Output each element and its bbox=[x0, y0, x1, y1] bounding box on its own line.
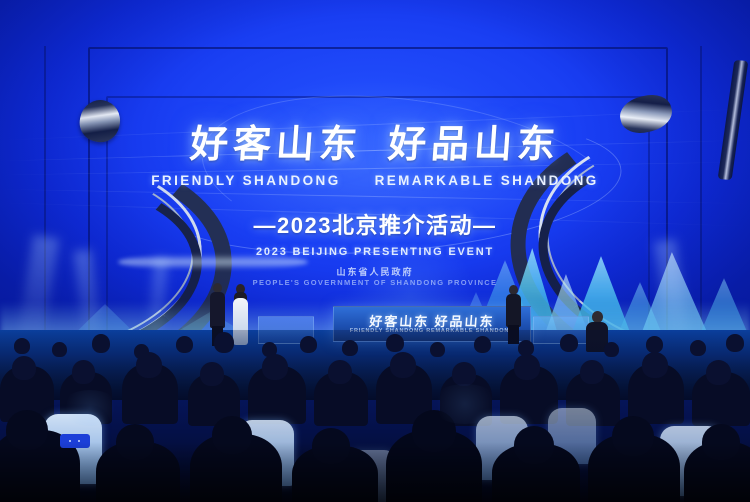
audience-head bbox=[116, 424, 154, 460]
audience-head bbox=[690, 340, 706, 356]
audience-head bbox=[430, 342, 445, 357]
audience-head bbox=[136, 352, 162, 378]
audience-head bbox=[580, 360, 604, 384]
audience-head bbox=[474, 336, 491, 353]
event-photo: 好客山东好品山东 FRIENDLY SHANDONGREMARKABLE SHA… bbox=[0, 0, 750, 502]
audience-head bbox=[312, 428, 350, 464]
screen-headline-block: 好客山东好品山东 FRIENDLY SHANDONGREMARKABLE SHA… bbox=[0, 126, 750, 258]
headline-en-right: REMARKABLE SHANDONG bbox=[375, 173, 599, 188]
audience-head bbox=[412, 410, 456, 452]
audience-head bbox=[604, 342, 619, 357]
organizer-chinese: 山东省人民政府 bbox=[0, 265, 750, 278]
subtitle-chinese: —2023北京推介活动— bbox=[0, 208, 750, 240]
audience-head bbox=[612, 416, 654, 456]
audience-head bbox=[12, 356, 36, 380]
chair-badge-dot bbox=[69, 440, 71, 442]
audience-head bbox=[390, 352, 416, 378]
audience-head bbox=[702, 424, 740, 460]
audience-head bbox=[176, 336, 193, 353]
audience-head bbox=[212, 416, 252, 454]
audience-head bbox=[52, 342, 67, 357]
audience-head bbox=[726, 334, 744, 352]
headline-english: FRIENDLY SHANDONGREMARKABLE SHANDONG bbox=[0, 173, 750, 188]
audience-head bbox=[300, 336, 317, 353]
headline-chinese: 好客山东好品山东 bbox=[0, 126, 750, 166]
audience-head bbox=[6, 410, 48, 450]
person-torso bbox=[506, 294, 521, 327]
audience-head bbox=[514, 426, 554, 464]
headline-cn-right: 好品山东 bbox=[387, 124, 562, 166]
person-torso bbox=[210, 292, 225, 328]
audience-head bbox=[262, 354, 288, 380]
audience-head bbox=[328, 360, 352, 384]
audience-head bbox=[514, 354, 540, 380]
audience-head bbox=[342, 340, 358, 356]
audience-area bbox=[0, 330, 750, 502]
audience-head bbox=[452, 362, 476, 386]
organizer-english: PEOPLE'S GOVERNMENT OF SHANDONG PROVINCE bbox=[0, 278, 750, 287]
audience-head bbox=[92, 334, 110, 353]
chair-badge bbox=[60, 434, 90, 448]
audience-head bbox=[72, 360, 95, 384]
audience-head bbox=[706, 360, 731, 385]
subtitle-english: 2023 BEIJING PRESENTING EVENT bbox=[0, 246, 750, 258]
audience-head bbox=[200, 362, 224, 386]
audience-head bbox=[560, 334, 578, 352]
audience-head bbox=[646, 336, 663, 353]
chair-badge-dot bbox=[78, 440, 80, 442]
audience-head bbox=[642, 352, 668, 378]
headline-en-left: FRIENDLY SHANDONG bbox=[151, 173, 340, 188]
audience-head bbox=[14, 338, 30, 354]
headline-cn-left: 好客山东 bbox=[189, 124, 364, 166]
audience-head bbox=[214, 332, 234, 353]
audience-head bbox=[386, 334, 404, 352]
